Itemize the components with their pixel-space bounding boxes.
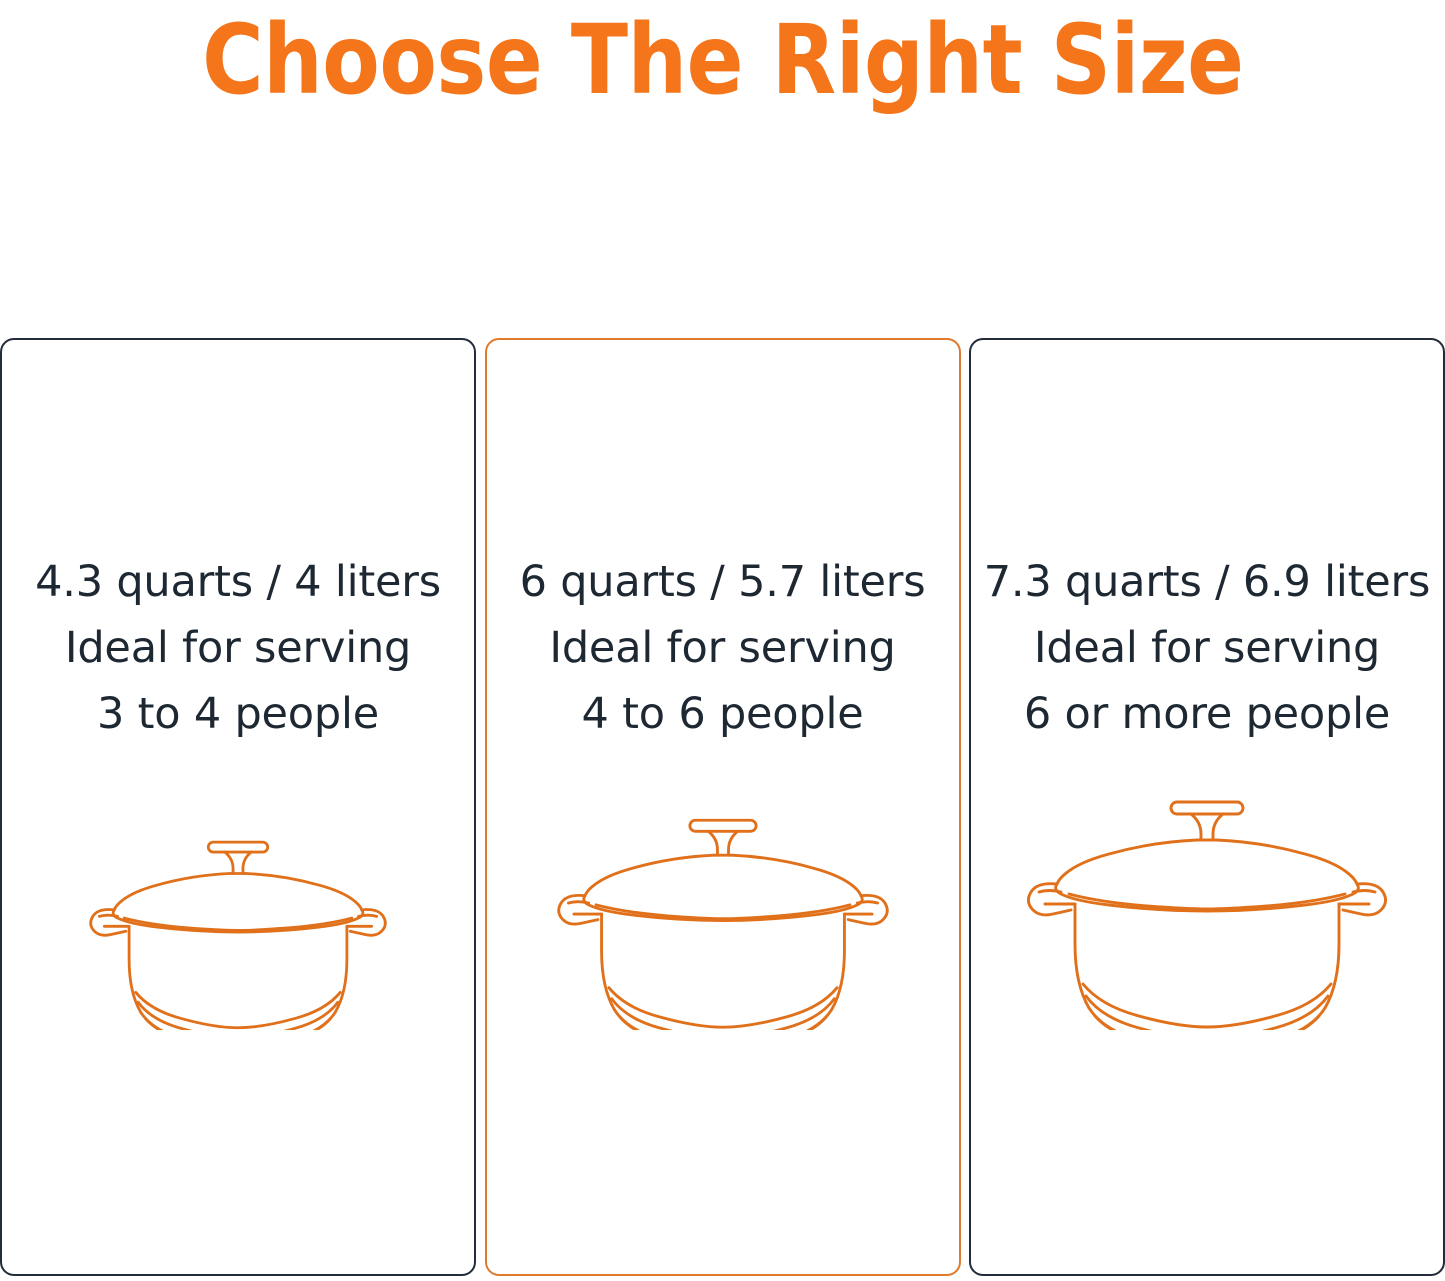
serving-label: Ideal for serving	[2, 616, 474, 682]
serving-count-label: 6 or more people	[971, 682, 1443, 748]
pot-illustration-wrap	[487, 770, 959, 1030]
size-card-4-3-quart[interactable]: 4.3 quarts / 4 liters Ideal for serving …	[0, 338, 476, 1276]
size-cards-row: 4.3 quarts / 4 liters Ideal for serving …	[0, 338, 1445, 1278]
title-bar: Choose The Right Size	[0, 0, 1445, 120]
serving-count-label: 3 to 4 people	[2, 682, 474, 748]
card-text-block: 7.3 quarts / 6.9 liters Ideal for servin…	[971, 550, 1443, 747]
dutch-oven-icon	[1007, 780, 1407, 1030]
size-card-6-quart[interactable]: 6 quarts / 5.7 liters Ideal for serving …	[485, 338, 961, 1276]
serving-label: Ideal for serving	[971, 616, 1443, 682]
card-text-block: 4.3 quarts / 4 liters Ideal for serving …	[2, 550, 474, 747]
serving-label: Ideal for serving	[487, 616, 959, 682]
serving-count-label: 4 to 6 people	[487, 682, 959, 748]
capacity-label: 4.3 quarts / 4 liters	[2, 550, 474, 616]
capacity-label: 6 quarts / 5.7 liters	[487, 550, 959, 616]
dutch-oven-icon	[539, 800, 907, 1030]
dutch-oven-icon	[73, 824, 403, 1030]
capacity-label: 7.3 quarts / 6.9 liters	[971, 550, 1443, 616]
size-card-7-3-quart[interactable]: 7.3 quarts / 6.9 liters Ideal for servin…	[969, 338, 1445, 1276]
page-title: Choose The Right Size	[202, 12, 1243, 108]
pot-illustration-wrap	[2, 770, 474, 1030]
card-text-block: 6 quarts / 5.7 liters Ideal for serving …	[487, 550, 959, 747]
pot-illustration-wrap	[971, 770, 1443, 1030]
